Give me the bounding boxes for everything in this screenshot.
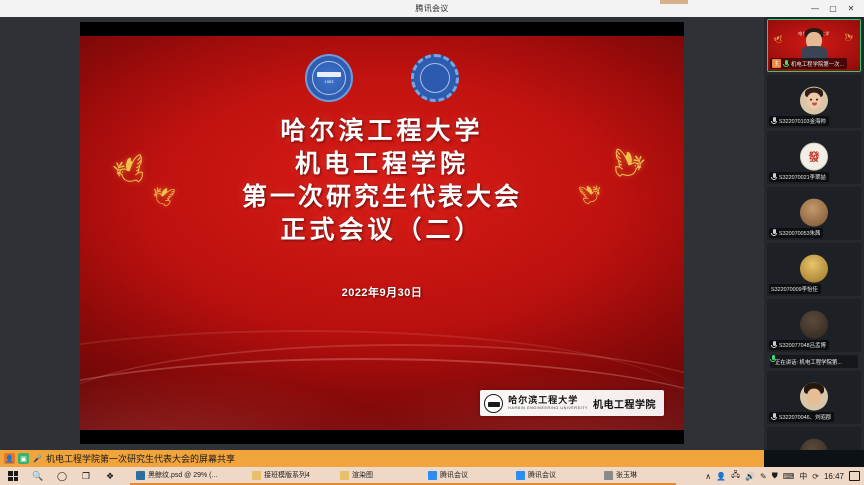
taskbar-clock[interactable]: 16:47 xyxy=(824,472,844,481)
participant-name: S320070053朱茜 xyxy=(779,229,820,237)
university-name-en: HARBIN ENGINEERING UNIVERSITY xyxy=(508,407,588,411)
participant-tile[interactable]: S322070046、刘昭郡 xyxy=(767,371,861,424)
avatar xyxy=(800,438,828,450)
avatar xyxy=(800,254,828,282)
participant-name: S322070021李翠喆 xyxy=(779,173,826,181)
avatar xyxy=(800,198,828,226)
shared-screen-stage[interactable]: 1953 🕊 🕊 🕊 🕊 哈尔滨工程大学 机电工程学院 第一次研究生代表大 xyxy=(0,17,764,450)
screen-share-text: 机电工程学院第一次研究生代表大会的屏幕共享 xyxy=(46,452,235,465)
notification-icon[interactable] xyxy=(849,471,860,481)
taskbar-app-user[interactable]: 张玉琳 xyxy=(598,467,676,485)
task-view-icon[interactable]: ❐ xyxy=(74,467,98,485)
university-logo-plate: 哈尔滨工程大学 HARBIN ENGINEERING UNIVERSITY 机电… xyxy=(480,390,664,416)
system-tray[interactable]: ∧ 👤 🖧 🔊 ✎ ⛊ ⌨ 中 ⟳ 16:47 xyxy=(705,467,864,485)
university-seal-icon xyxy=(484,394,503,413)
windows-taskbar[interactable]: 👤 ▣ 🎤 机电工程学院第一次研究生代表大会的屏幕共享 🔍 ◯ ❐ ❖ 黑鲸纹.… xyxy=(0,450,864,485)
folder-icon xyxy=(252,471,261,480)
ime-icon[interactable]: 中 xyxy=(799,471,807,482)
slide-date: 2022年9月30日 xyxy=(80,284,684,300)
slide-title-line-1: 哈尔滨工程大学 xyxy=(80,114,684,147)
widget-icon[interactable]: ❖ xyxy=(98,467,122,485)
taskbar-row[interactable]: 🔍 ◯ ❐ ❖ 黑鲸纹.psd @ 29% (... 接班模版系列4 渲染图 腾… xyxy=(0,467,864,485)
microphone-icon xyxy=(783,60,789,68)
participant-name: S320077048吕孟博 xyxy=(779,341,826,349)
host-badge: 主 xyxy=(772,59,781,68)
participant-tile[interactable]: S321077094 祝怡星 xyxy=(767,427,861,450)
participant-name: 机电工程学院第一次... xyxy=(791,60,844,68)
taskbar-app-label: 腾讯会议 xyxy=(528,470,556,480)
start-button[interactable] xyxy=(0,467,26,485)
photoshop-icon xyxy=(136,471,145,480)
taskbar-app-label: 黑鲸纹.psd @ 29% (... xyxy=(148,470,217,480)
participant-tile[interactable]: S320077048吕孟博 xyxy=(767,299,861,352)
search-icon[interactable]: 🔍 xyxy=(26,467,50,485)
participant-name: S322070009李怡佳 xyxy=(771,285,818,293)
volume-icon[interactable]: 🔊 xyxy=(745,472,755,481)
participant-tile[interactable]: 發 S322070021李翠喆 xyxy=(767,131,861,184)
university-name-cn: 哈尔滨工程大学 xyxy=(508,396,588,405)
tencent-meeting-icon xyxy=(516,471,525,480)
slide-title-line-4: 正式会议（二） xyxy=(80,213,684,246)
presentation-slide: 1953 🕊 🕊 🕊 🕊 哈尔滨工程大学 机电工程学院 第一次研究生代表大 xyxy=(80,36,684,430)
screen-icon: ▣ xyxy=(18,453,29,464)
speaking-banner-text: 正在讲话: 机电工程学院第... xyxy=(775,358,842,366)
screen-share-banner[interactable]: 👤 ▣ 🎤 机电工程学院第一次研究生代表大会的屏幕共享 xyxy=(0,450,764,467)
participant-tile[interactable]: S320070053朱茜 xyxy=(767,187,861,240)
slide-title-line-2: 机电工程学院 xyxy=(80,147,684,180)
microphone-icon[interactable]: 🎤 xyxy=(32,453,43,464)
university-emblem-icon: 1953 xyxy=(305,54,353,102)
person-icon[interactable]: 👤 xyxy=(716,472,726,481)
taskbar-app-folder-1[interactable]: 接班模版系列4 xyxy=(246,467,334,485)
emblem-year: 1953 xyxy=(325,79,334,84)
presenter-webcam xyxy=(803,28,825,54)
speaking-banner-wrap: 正在讲话: 机电工程学院第... xyxy=(767,355,861,368)
microphone-muted-icon xyxy=(771,229,777,237)
slide-emblems: 1953 xyxy=(80,54,684,102)
participant-tile[interactable]: S322070009李怡佳 xyxy=(767,243,861,296)
microphone-muted-icon xyxy=(771,117,777,125)
window-titlebar: 腾讯会议 — ▢ ✕ xyxy=(0,0,864,17)
taskbar-app-label: 接班模版系列4 xyxy=(264,470,310,480)
tile-label: S320070053朱茜 xyxy=(769,228,823,238)
microphone-muted-icon xyxy=(771,173,777,181)
sync-icon[interactable]: ⟳ xyxy=(812,472,819,481)
tile-label: S322070103金海帅 xyxy=(769,116,829,126)
tile-label: S320077048吕孟博 xyxy=(769,340,829,350)
windows-logo-icon xyxy=(8,471,18,481)
taskbar-app-folder-2[interactable]: 渲染图 xyxy=(334,467,422,485)
keyboard-icon[interactable]: ⌨ xyxy=(783,472,795,481)
avatar xyxy=(800,310,828,338)
speaking-banner: 正在讲话: 机电工程学院第... xyxy=(770,355,858,368)
participant-name: S322070103金海帅 xyxy=(779,117,826,125)
tencent-meeting-icon xyxy=(428,471,437,480)
avatar xyxy=(800,382,828,410)
folder-icon xyxy=(340,471,349,480)
generic-app-icon xyxy=(604,471,613,480)
tile-label: S322070046、刘昭郡 xyxy=(769,412,834,422)
taskbar-app-label: 张玉琳 xyxy=(616,470,637,480)
tile-label: S322070021李翠喆 xyxy=(769,172,829,182)
cortana-icon[interactable]: ◯ xyxy=(50,467,74,485)
taskbar-app-photoshop[interactable]: 黑鲸纹.psd @ 29% (... xyxy=(130,467,246,485)
taskbar-app-tencent-meeting-1[interactable]: 腾讯会议 xyxy=(422,467,510,485)
tile-label: S322070009李怡佳 xyxy=(769,284,821,294)
taskbar-app-tencent-meeting-2[interactable]: 腾讯会议 xyxy=(510,467,598,485)
minimize-button[interactable]: — xyxy=(806,0,824,17)
college-name-cn: 机电工程学院 xyxy=(593,396,656,411)
college-gear-emblem-icon xyxy=(411,54,459,102)
window-title: 腾讯会议 xyxy=(415,3,448,14)
network-icon[interactable]: 🖧 xyxy=(731,469,740,483)
slide-title-block: 哈尔滨工程大学 机电工程学院 第一次研究生代表大会 正式会议（二） xyxy=(80,114,684,246)
meeting-window: 1953 🕊 🕊 🕊 🕊 哈尔滨工程大学 机电工程学院 第一次研究生代表大 xyxy=(0,17,864,450)
presenter-icon: 👤 xyxy=(4,453,15,464)
slide-title-line-3: 第一次研究生代表大会 xyxy=(80,180,684,213)
titlebar-peek-strip xyxy=(660,0,688,4)
microphone-muted-icon xyxy=(771,341,777,349)
taskbar-app-label: 腾讯会议 xyxy=(440,470,468,480)
avatar xyxy=(800,86,828,114)
maximize-button[interactable]: ▢ xyxy=(824,0,842,17)
shared-screen-frame: 1953 🕊 🕊 🕊 🕊 哈尔滨工程大学 机电工程学院 第一次研究生代表大 xyxy=(80,22,684,444)
window-controls[interactable]: — ▢ ✕ xyxy=(806,0,860,17)
close-button[interactable]: ✕ xyxy=(842,0,860,17)
avatar: 發 xyxy=(800,142,828,170)
microphone-muted-icon xyxy=(771,413,777,421)
shield-icon[interactable]: ⛊ xyxy=(772,471,778,481)
taskbar-app-label: 渲染图 xyxy=(352,470,373,480)
participant-name: S322070046、刘昭郡 xyxy=(779,413,831,421)
participant-tile[interactable]: S322070103金海帅 xyxy=(767,75,861,128)
tile-label: 主 机电工程学院第一次... xyxy=(770,58,847,69)
tray-chevron-icon[interactable]: ∧ xyxy=(705,472,711,481)
participant-sidebar[interactable]: 🕊 🕊 哈尔滨工程大学 主 机电工程学院第一次... xyxy=(764,17,864,450)
pen-icon[interactable]: ✎ xyxy=(760,472,767,481)
participant-tile-screen-share[interactable]: 🕊 🕊 哈尔滨工程大学 主 机电工程学院第一次... xyxy=(767,19,861,72)
